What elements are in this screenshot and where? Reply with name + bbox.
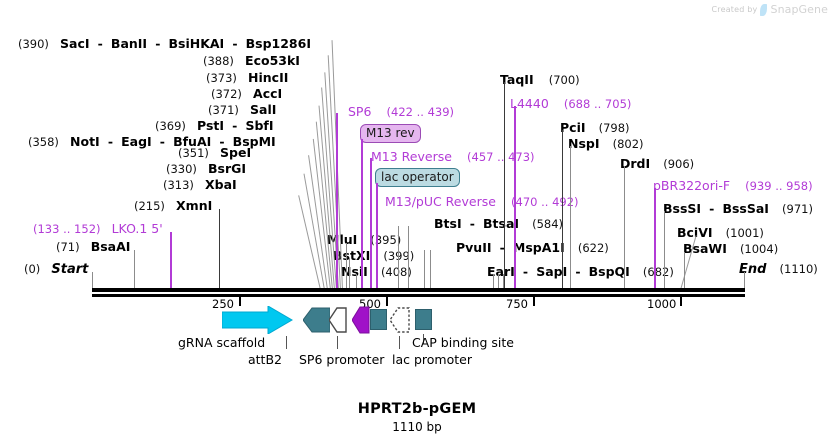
enzyme-position: (71) — [56, 240, 80, 254]
backbone-strand-top — [92, 288, 745, 292]
feature-badge-m13-rev[interactable]: M13 rev — [360, 124, 421, 143]
feature-arrow-grna-scaffold[interactable] — [222, 306, 294, 334]
start-text: Start — [51, 262, 88, 277]
leader-btsai — [408, 226, 409, 290]
enzyme-name: Eco53kI — [245, 53, 300, 68]
enzyme-label-row-388: (388) Eco53kI — [203, 52, 300, 68]
primer-name: L4440 — [510, 96, 549, 111]
enzyme-position: (215) — [134, 199, 165, 213]
feature-tick-lac-promoter — [399, 336, 400, 349]
enzyme-position: (358) — [28, 135, 59, 149]
leader-mspa1i — [430, 250, 431, 290]
enzyme-position: (373) — [206, 71, 237, 85]
feature-box-lac-operator[interactable] — [370, 309, 387, 330]
enzyme-name: BsiHKAI — [168, 36, 224, 51]
snapgene-watermark: Created by SnapGene — [711, 3, 828, 16]
feature-badge-lac-operator[interactable]: lac operator — [375, 168, 460, 187]
primer-range: (133 .. 152) — [33, 222, 101, 236]
enzyme-name: BssSaI — [722, 201, 769, 216]
enzyme-name: XmnI — [176, 198, 212, 213]
start-position: (0) — [24, 262, 40, 276]
plasmid-name: HPRT2b-pGEM — [0, 401, 834, 417]
enzyme-name: MspA1I — [513, 240, 565, 255]
feature-label-cap-binding-site: CAP binding site — [412, 337, 514, 350]
ruler-tick-1000 — [680, 297, 682, 306]
primer-stem-m13rev — [361, 139, 363, 290]
leader-bstxi — [349, 258, 350, 290]
enzyme-name: XbaI — [205, 177, 237, 192]
enzyme-position: (351) — [178, 146, 209, 160]
ruler-tick-250 — [239, 297, 241, 306]
enzyme-position: (700) — [549, 73, 580, 87]
enzyme-name: BtsI — [434, 216, 462, 231]
enzyme-position: (584) — [532, 217, 563, 231]
primer-range: (470 .. 492) — [511, 195, 579, 209]
primer-stem-sp6 — [336, 113, 338, 290]
primer-range: (457 .. 473) — [467, 150, 535, 164]
enzyme-label-row-372: (372) AccI — [211, 85, 282, 101]
enzyme-position: (390) — [18, 37, 49, 51]
enzyme-label-row-802: NspI (802) — [568, 135, 644, 151]
leader-btsi — [398, 226, 399, 290]
leader-bsaai — [134, 250, 135, 290]
ruler-label-750: 750 — [506, 299, 528, 311]
enzyme-name: NotI — [70, 134, 100, 149]
leader-mlui — [346, 243, 347, 290]
leader-bsawi — [684, 252, 685, 290]
enzyme-label-row-390: (390) SacI - BanII - BsiHKAI - Bsp1286I — [18, 35, 311, 51]
enzyme-name: Bsp1286I — [246, 36, 311, 51]
ruler-tick-500 — [386, 297, 388, 306]
enzyme-label-row-71: (71) BsaAI — [56, 238, 130, 254]
enzyme-name: PvuII — [456, 240, 492, 255]
leader-pvuii — [424, 250, 425, 290]
feature-arrow-sp6-promoter[interactable] — [329, 306, 347, 334]
enzyme-position: (906) — [663, 157, 694, 171]
leader-drdi — [624, 166, 625, 290]
enzyme-label-row-798: PciI (798) — [560, 119, 630, 135]
enzyme-name: TaqII — [500, 72, 534, 87]
feature-label-grna-scaffold: gRNA scaffold — [178, 337, 265, 350]
primer-label-lko1: (133 .. 152) LKO.1 5' — [33, 220, 163, 236]
primer-name: M13 Reverse — [371, 149, 452, 164]
plasmid-map: Created by SnapGene (390) SacI - BanII -… — [0, 0, 834, 441]
enzyme-label-row-906: DrdI (906) — [620, 155, 694, 171]
enzyme-position: (313) — [163, 178, 194, 192]
primer-label-m13-reverse: M13 Reverse (457 .. 473) — [371, 148, 535, 164]
feature-label-sp6-promoter: SP6 promoter — [299, 354, 384, 367]
feature-arrow-m13-rev[interactable] — [352, 305, 370, 335]
end-label: End (1110) — [739, 260, 818, 276]
primer-stem-lko1 — [170, 232, 172, 290]
snapgene-leaf-icon — [760, 4, 767, 16]
leader-pcii — [562, 130, 563, 290]
watermark-prefix: Created by — [711, 5, 757, 14]
start-label: (0) Start — [24, 260, 88, 276]
primer-stem-m13puc — [376, 183, 378, 290]
primer-stem-m13-reverse — [370, 158, 372, 290]
ruler-tick-750 — [533, 297, 535, 306]
enzyme-name: AccI — [253, 86, 282, 101]
enzyme-label-row-215: (215) XmnI — [134, 197, 212, 213]
primer-label-m13-puc-reverse: M13/pUC Reverse (470 .. 492) — [385, 193, 579, 209]
primer-name: LKO.1 5' — [112, 221, 163, 236]
feature-arrow-attb2[interactable] — [303, 306, 330, 334]
primer-name: pBR322ori-F — [653, 178, 730, 193]
enzyme-name: BanII — [111, 36, 147, 51]
enzyme-name: PciI — [560, 120, 586, 135]
enzyme-label-row-313: (313) XbaI — [163, 176, 237, 192]
enzyme-label-row-1001: BciVI (1001) — [677, 224, 764, 240]
enzyme-name: SalI — [250, 102, 276, 117]
enzyme-name: SbfI — [245, 118, 273, 133]
ruler-label-1000: 1000 — [647, 299, 676, 311]
primer-name: M13/pUC Reverse — [385, 194, 496, 209]
enzyme-position: (372) — [211, 87, 242, 101]
primer-range: (422 .. 439) — [387, 105, 455, 119]
enzyme-position: (1004) — [740, 242, 778, 256]
enzyme-position: (388) — [203, 54, 234, 68]
end-position: (1110) — [780, 262, 818, 276]
feature-label-attb2: attB2 — [248, 354, 282, 367]
leader-xmni — [219, 209, 220, 290]
primer-label-l4440: L4440 (688 .. 705) — [510, 95, 631, 111]
enzyme-position: (971) — [782, 202, 813, 216]
primer-label-pbr322ori-f: pBR322ori-F (939 .. 958) — [653, 177, 813, 193]
primer-stem-l4440 — [514, 106, 516, 290]
feature-tick-sp6-promoter — [337, 336, 338, 349]
primer-stem-pbr322ori — [654, 188, 656, 290]
watermark-brand: SnapGene — [770, 3, 828, 16]
primer-range: (939 .. 958) — [745, 179, 813, 193]
primer-label-sp6: SP6 (422 .. 439) — [348, 103, 454, 119]
enzyme-name: EagI — [121, 134, 152, 149]
enzyme-label-row-330: (330) BsrGI — [166, 160, 246, 176]
enzyme-label-row-584: BtsI - BtsaI (584) — [434, 215, 563, 231]
enzyme-position: (802) — [613, 137, 644, 151]
enzyme-name: NspI — [568, 136, 600, 151]
enzyme-name: SpeI — [220, 145, 251, 160]
feature-tick-attb2 — [286, 336, 287, 349]
feature-box-cap-binding-site[interactable] — [415, 309, 432, 330]
enzyme-position: (622) — [578, 241, 609, 255]
enzyme-name: HincII — [248, 70, 288, 85]
enzyme-name: EarI — [487, 264, 515, 279]
enzyme-label-row-622: PvuII - MspA1I (622) — [456, 239, 609, 255]
leader-nspi — [570, 146, 571, 290]
enzyme-label-row-373: (373) HincII — [206, 69, 288, 85]
feature-label-lac-promoter: lac promoter — [392, 354, 472, 367]
enzyme-label-row-1004: BsaWI (1004) — [683, 240, 778, 256]
enzyme-label-row-700: TaqII (700) — [500, 71, 580, 87]
plasmid-size: 1110 bp — [0, 420, 834, 434]
feature-arrow-lac-promoter[interactable] — [390, 306, 410, 334]
enzyme-name: BsaAI — [91, 239, 131, 254]
enzyme-label-row-971: BssSI - BssSaI (971) — [663, 200, 813, 216]
enzyme-position: (330) — [166, 162, 197, 176]
plasmid-title-block: HPRT2b-pGEM 1110 bp — [0, 401, 834, 434]
enzyme-label-row-351: (351) SpeI — [178, 144, 251, 160]
enzyme-name: BssSI — [663, 201, 701, 216]
enzyme-position: (682) — [643, 265, 674, 279]
leader-bsssi — [664, 211, 665, 290]
enzyme-name: BsrGI — [208, 161, 246, 176]
enzyme-name: SacI — [60, 36, 90, 51]
leader-taqii — [504, 82, 505, 290]
primer-range: (688 .. 705) — [564, 97, 632, 111]
primer-name: SP6 — [348, 104, 371, 119]
